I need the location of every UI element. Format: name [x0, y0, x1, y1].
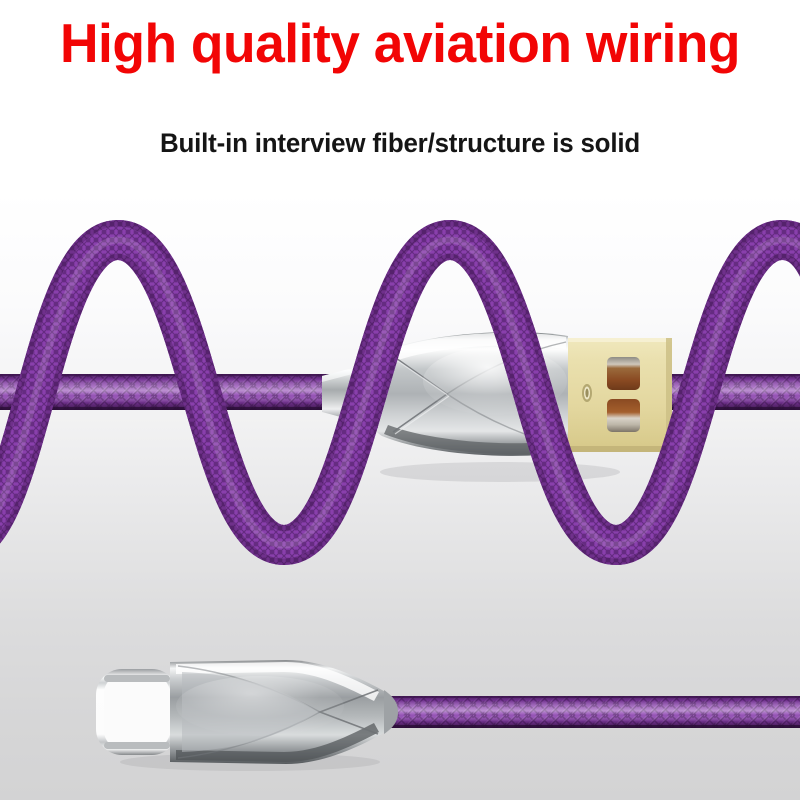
usb-contact-window-bottom: [607, 399, 640, 432]
usb-a-gold-tip: [562, 338, 672, 452]
usb-contact-window-top: [607, 357, 640, 390]
product-marketing-image: High quality aviation wiring Built-in in…: [0, 0, 800, 800]
product-illustration: [0, 0, 800, 800]
usb-c-tip: [96, 669, 178, 755]
usb-c-connector: [96, 660, 398, 771]
usb-c-housing: [170, 660, 398, 764]
